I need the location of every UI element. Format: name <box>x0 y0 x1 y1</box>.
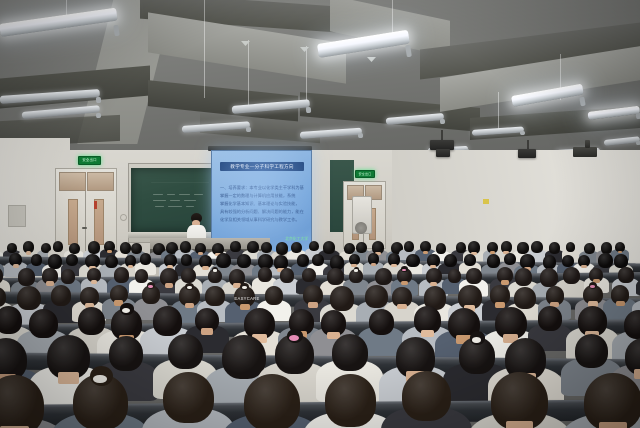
shirt-graphic-text: EASYCARE <box>226 296 268 301</box>
student-head <box>540 268 558 287</box>
door-panel <box>68 199 78 245</box>
student-head <box>323 241 335 254</box>
student-head <box>325 374 377 427</box>
slide-body-line: 掌握化学基本知识、基本理论与实验技能， <box>220 201 304 206</box>
student-head <box>515 268 532 286</box>
slide-body-line: 具有较强的分析问题、解决问题的能力，能在 <box>220 209 304 214</box>
student-head <box>153 306 183 336</box>
student-head <box>302 268 316 282</box>
student-head <box>406 254 419 268</box>
student-head <box>562 255 574 267</box>
student-head <box>216 253 231 268</box>
student-head <box>109 336 143 371</box>
student-neck <box>423 251 428 254</box>
door-transom-glass <box>87 172 114 191</box>
hair-tie <box>402 269 406 271</box>
student-head <box>464 254 476 266</box>
fluorescent-tube-light <box>386 113 444 125</box>
student-head <box>7 243 17 253</box>
student-neck <box>616 301 625 306</box>
student-head <box>29 309 58 338</box>
student-head <box>53 241 63 251</box>
student-head <box>51 285 71 306</box>
student-neck <box>26 251 32 254</box>
student-neck <box>391 264 397 267</box>
student-head <box>543 255 557 269</box>
student-head <box>69 243 80 254</box>
student-head <box>237 254 251 268</box>
student-head <box>244 374 300 428</box>
student-head <box>105 255 118 268</box>
student-head <box>491 372 548 428</box>
student-head <box>88 241 100 253</box>
student-head <box>531 241 543 253</box>
student-head <box>61 269 75 284</box>
student-head <box>291 242 302 253</box>
student-head <box>131 243 142 254</box>
student-head <box>365 285 387 308</box>
student-head <box>375 268 392 285</box>
student-head <box>549 242 560 253</box>
ceiling <box>0 0 640 170</box>
light-end-cap <box>636 141 640 146</box>
student-head <box>66 254 78 266</box>
student-head <box>436 243 447 254</box>
student-head <box>180 241 191 252</box>
light-end-cap <box>246 127 251 132</box>
student-head <box>584 243 595 255</box>
student-head <box>356 242 367 253</box>
student-neck <box>13 264 19 268</box>
student-head <box>448 269 462 283</box>
student-neck <box>185 303 195 309</box>
student-head <box>402 371 451 421</box>
student-head <box>135 269 149 283</box>
fan-grille-icon <box>355 222 367 234</box>
student-head <box>17 286 41 310</box>
slide-body-line: 掌握一定的数理与计算机应用技能，系统 <box>220 193 304 198</box>
student-neck <box>501 280 509 285</box>
fluorescent-tube-light <box>604 136 640 146</box>
light-end-cap <box>636 113 640 120</box>
light-end-cap <box>306 107 312 113</box>
projector-body <box>436 149 450 157</box>
door-transom-glass <box>59 172 86 191</box>
ceiling-light-array <box>0 0 640 170</box>
light-end-cap <box>96 113 101 118</box>
hair-tie <box>354 269 358 271</box>
student-head <box>487 254 501 268</box>
light-end-cap <box>520 131 525 135</box>
student-neck <box>495 302 504 307</box>
student-neck <box>91 280 98 284</box>
student-neck <box>397 304 406 309</box>
student-head <box>404 241 414 251</box>
student-head <box>181 268 196 283</box>
wall-outlet <box>120 214 127 221</box>
student-head <box>332 334 368 371</box>
student-neck <box>401 281 408 285</box>
student-head <box>584 373 640 428</box>
hair-tie <box>213 269 217 271</box>
slide-body-line: 化学及相关领域从事科学研究与教学工作。 <box>220 217 304 222</box>
student-head <box>18 268 35 285</box>
student-head <box>114 267 130 283</box>
student-neck <box>308 302 318 308</box>
student-head <box>163 372 213 423</box>
fluorescent-tube-light <box>232 99 310 114</box>
student-head <box>514 287 535 309</box>
student-neck <box>581 265 587 268</box>
light-end-cap <box>405 45 412 58</box>
fluorescent-tube-light <box>317 30 410 58</box>
student-head <box>444 254 457 267</box>
light-end-cap <box>96 97 101 103</box>
exit-sign-left: 安全出口 <box>78 156 101 165</box>
student-head <box>369 309 395 335</box>
fluorescent-tube-light <box>511 84 584 107</box>
student-head <box>466 268 482 284</box>
student-head <box>230 241 240 252</box>
speaker-bracket <box>585 140 590 148</box>
student-head <box>327 268 345 286</box>
student-neck <box>46 281 53 285</box>
student-neck <box>634 369 640 379</box>
light-end-cap <box>440 119 445 124</box>
fluorescent-tube-light <box>0 89 100 104</box>
student-neck <box>165 283 173 288</box>
slide-title: 教学专业—分子科学工程方向 <box>220 162 304 171</box>
student-neck <box>240 304 250 310</box>
door-handle[interactable] <box>82 227 87 229</box>
audience-area <box>0 240 640 428</box>
student-head <box>205 286 224 306</box>
student-head <box>168 334 203 370</box>
student-neck <box>201 328 213 335</box>
student-head <box>330 286 354 310</box>
student-neck <box>202 266 208 270</box>
student-head <box>618 267 633 283</box>
fluorescent-tube-light <box>0 8 118 37</box>
light-end-cap <box>358 133 363 138</box>
student-head <box>575 334 608 368</box>
desk-rows <box>0 240 640 428</box>
student-head <box>181 254 193 266</box>
student-head <box>614 254 627 268</box>
student-head <box>280 268 294 283</box>
student-head <box>538 306 562 330</box>
student-neck <box>421 330 434 338</box>
wall-notice-plate <box>8 205 26 227</box>
student-head <box>247 241 259 253</box>
door-notice-sticker <box>94 201 97 209</box>
slide-body-line: 一、培养要求：本专业以化学类主干学科为基础， <box>220 185 304 190</box>
student-head <box>0 306 22 334</box>
fluorescent-tube-light <box>22 105 100 119</box>
ceiling-projector <box>518 149 536 158</box>
student-head <box>258 267 272 281</box>
student-head <box>563 267 580 284</box>
student-neck <box>430 282 437 286</box>
fluorescent-tube-light <box>588 106 640 120</box>
light-end-cap <box>113 25 119 37</box>
exit-sign-right: 安全出口 <box>355 170 375 178</box>
fluorescent-tube-light <box>182 121 250 133</box>
fluorescent-tube-light <box>300 128 362 139</box>
student-neck <box>58 372 79 384</box>
fluorescent-tube-light <box>472 126 524 136</box>
student-head <box>31 254 43 266</box>
lecture-hall-photo: 教学专业—分子科学工程方向 一、培养要求：本专业以化学类主干学科为基础， 掌握一… <box>0 0 640 428</box>
student-neck <box>506 421 534 428</box>
student-head <box>566 242 575 252</box>
student-head <box>140 253 152 265</box>
hair-tie <box>187 286 192 289</box>
student-head <box>78 307 105 335</box>
student-neck <box>599 422 627 428</box>
student-head <box>312 254 324 266</box>
wall-marker-yellow <box>483 199 489 204</box>
wall-speaker <box>573 147 597 157</box>
light-end-cap <box>579 97 585 107</box>
